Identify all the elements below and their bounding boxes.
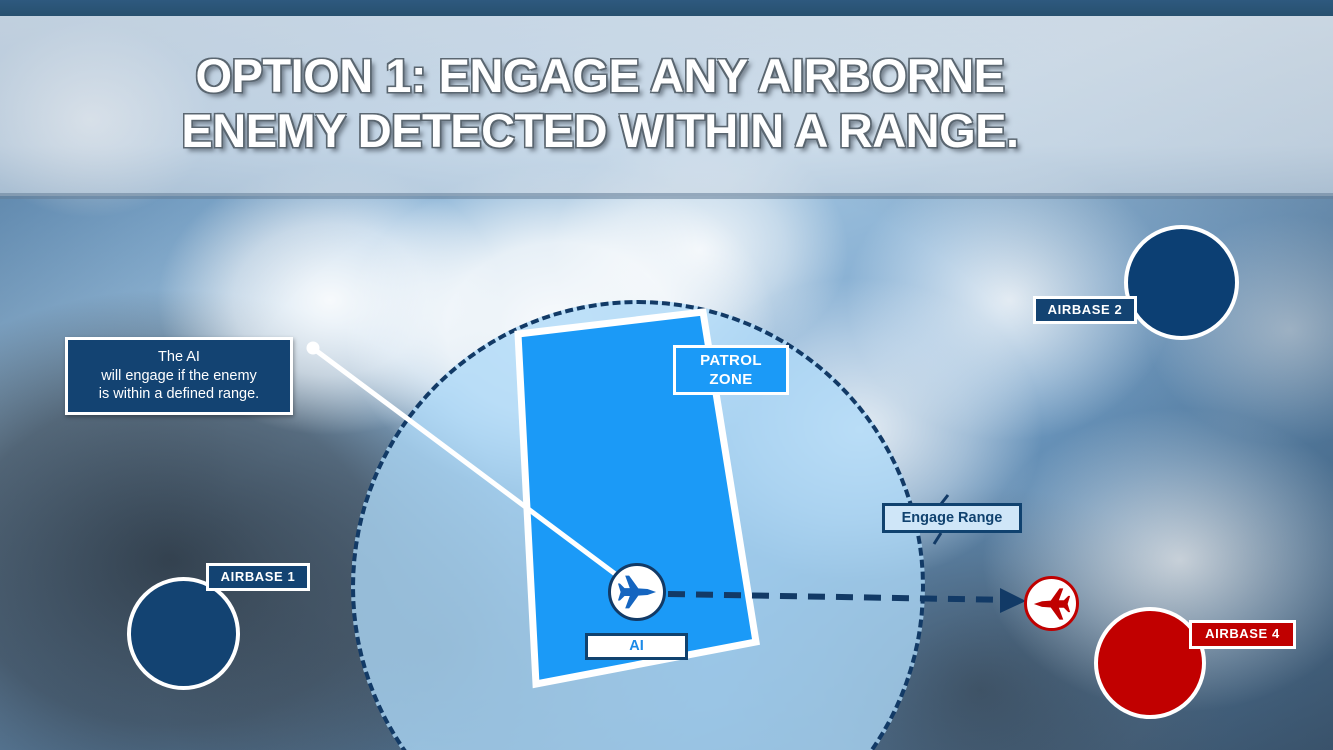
airbase-2-marker[interactable] — [1124, 225, 1239, 340]
patrol-zone-label: PATROL ZONE — [673, 345, 789, 395]
ai-behavior-callout: The AI will engage if the enemy is withi… — [65, 337, 293, 415]
title-band-divider — [0, 193, 1333, 199]
airbase-4-label: AIRBASE 4 — [1189, 620, 1296, 649]
airbase-1-marker[interactable] — [127, 577, 240, 690]
engage-range-label: Engage Range — [882, 503, 1022, 533]
page-title: OPTION 1: ENGAGE ANY AIRBORNE ENEMY DETE… — [0, 48, 1200, 159]
airbase-2-label: AIRBASE 2 — [1033, 296, 1137, 324]
slide-canvas: OPTION 1: ENGAGE ANY AIRBORNE ENEMY DETE… — [0, 0, 1333, 750]
ai-label: AI — [585, 633, 688, 660]
fighter-jet-red-icon — [1032, 584, 1072, 624]
ai-jet-marker[interactable] — [608, 563, 666, 621]
airbase-1-label: AIRBASE 1 — [206, 563, 310, 591]
top-accent-strip — [0, 0, 1333, 16]
enemy-jet-marker[interactable] — [1024, 576, 1079, 631]
fighter-jet-blue-icon — [616, 571, 658, 613]
